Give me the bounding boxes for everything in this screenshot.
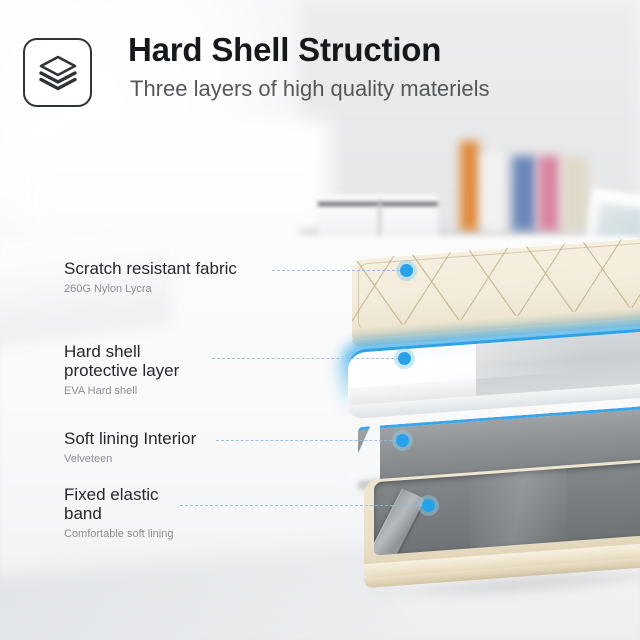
connector-line-3 <box>216 440 402 441</box>
callout-title: Fixed elastic band <box>64 485 173 523</box>
callout-subtitle: EVA Hard shell <box>64 385 179 397</box>
connector-line-4 <box>180 505 428 506</box>
layers-stack-icon <box>23 38 92 107</box>
fixed-elastic-band <box>374 488 425 555</box>
callout-title: Soft lining Interior <box>64 429 196 448</box>
callout-scratch-resistant-fabric: Scratch resistant fabric 260G Nylon Lycr… <box>64 259 237 295</box>
header: Hard Shell Struction Three layers of hig… <box>0 0 640 120</box>
callout-subtitle: 260G Nylon Lycra <box>64 283 237 295</box>
connector-line-2 <box>212 358 404 359</box>
blue-dot-marker-3 <box>396 434 409 447</box>
blue-dot-marker-2 <box>398 352 411 365</box>
infographic-canvas: Hard Shell Struction Three layers of hig… <box>0 0 640 640</box>
page-subtitle: Three layers of high quality materiels <box>130 76 490 102</box>
blue-dot-marker-1 <box>400 264 413 277</box>
tray-sheen <box>470 461 566 555</box>
callout-soft-lining-interior: Soft lining Interior Velveteen <box>64 429 196 465</box>
callout-subtitle: Velveteen <box>64 453 196 465</box>
callout-hard-shell-protective-layer: Hard shell protective layer EVA Hard she… <box>64 342 179 397</box>
connector-line-1 <box>272 270 405 271</box>
elastic-band-edge <box>374 488 427 555</box>
callout-fixed-elastic-band: Fixed elastic band Comfortable soft lini… <box>64 485 173 540</box>
callout-title: Hard shell protective layer <box>64 342 179 380</box>
callout-title: Scratch resistant fabric <box>64 259 237 278</box>
page-title: Hard Shell Struction <box>128 31 441 69</box>
callout-subtitle: Comfortable soft lining <box>64 528 173 540</box>
blue-dot-marker-4 <box>422 499 435 512</box>
